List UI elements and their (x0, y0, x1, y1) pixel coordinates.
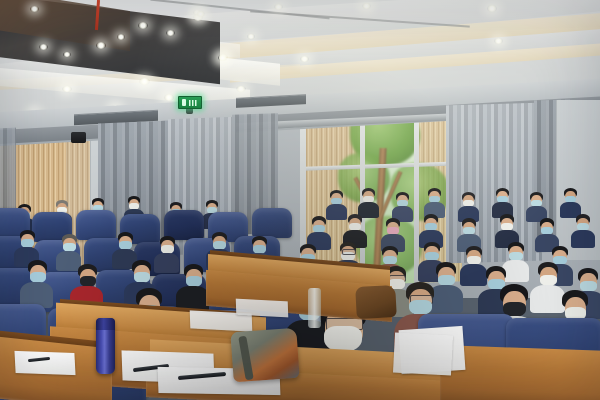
ceiling-downlight (30, 6, 39, 12)
auditorium-seat (252, 208, 292, 238)
ceiling-downlight (300, 56, 309, 62)
ceiling-downlight (247, 34, 255, 39)
ceiling-downlight (62, 86, 72, 92)
wall-speaker-icon (71, 132, 86, 143)
ceiling-downlight (117, 34, 125, 40)
water-bottle (308, 288, 321, 328)
document-paper (14, 351, 75, 375)
handbag (355, 285, 397, 319)
ceiling-downlight (164, 94, 174, 101)
exit-sign-icon (178, 96, 202, 109)
conference-hall-photograph (0, 0, 600, 400)
ceiling-downlight (494, 38, 503, 44)
ceiling-downlight (63, 52, 71, 57)
ceiling-downlight (96, 42, 106, 49)
ceiling-downlight (218, 55, 227, 61)
auditorium-seat (76, 210, 116, 240)
document-paper (236, 299, 289, 318)
ceiling-downlight (362, 3, 371, 9)
thermos-flask (96, 318, 115, 374)
ceiling-downlight (274, 4, 283, 10)
ceiling-downlight (139, 78, 150, 85)
ceiling-downlight (39, 44, 48, 50)
ceiling-downlight (487, 5, 497, 12)
ceiling-downlight (166, 30, 175, 36)
ceiling-downlight (236, 86, 246, 92)
document-paper (393, 333, 453, 376)
ceiling-downlight (138, 22, 148, 29)
ceiling-downlight (196, 11, 205, 17)
